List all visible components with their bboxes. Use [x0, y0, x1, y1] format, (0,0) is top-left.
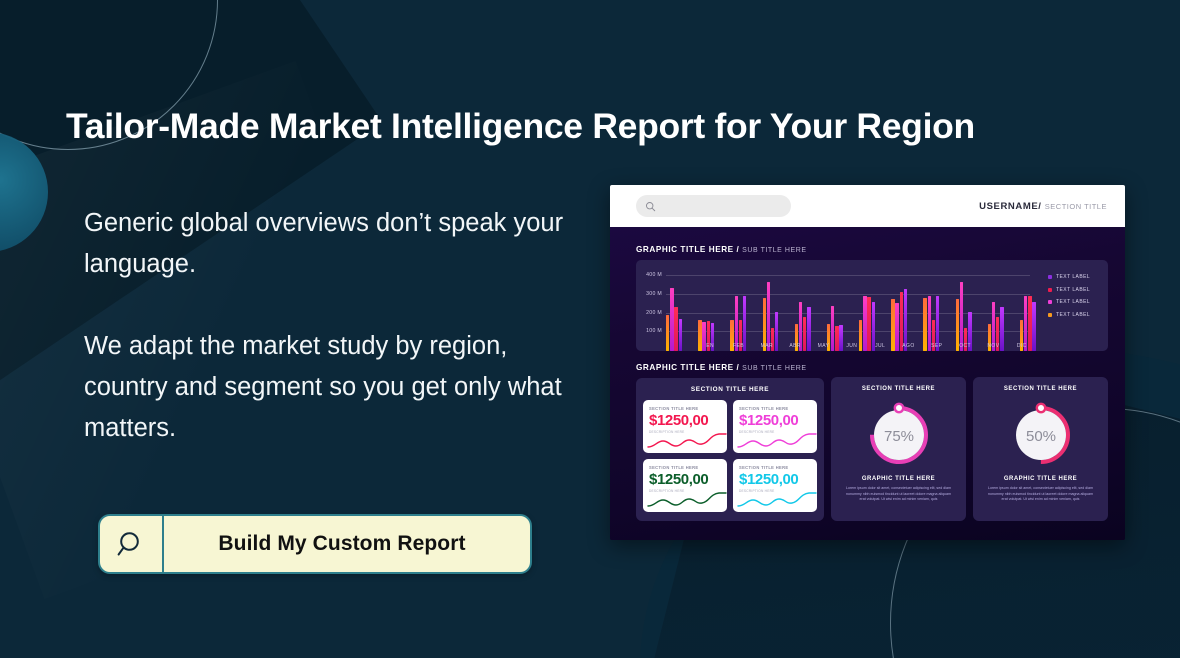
bar-group: [666, 267, 682, 351]
donut-svg: 75%: [864, 400, 934, 470]
bar-chart-panel: GRAPHIC TITLE HERE / SUB TITLE HERE 400 …: [636, 245, 1108, 351]
search-icon: [645, 201, 656, 212]
stats-panel: GRAPHIC TITLE HERE / SUB TITLE HERE SECT…: [636, 363, 824, 521]
donut-graphic-title: GRAPHIC TITLE HERE: [839, 476, 958, 482]
build-report-button[interactable]: Build My Custom Report: [98, 514, 532, 574]
stat-label: SECTION TITLE HERE: [739, 465, 811, 470]
x-axis-tick: FEB: [724, 343, 752, 349]
stat-card[interactable]: SECTION TITLE HERE$1250,00DESCRIPTION HE…: [733, 459, 817, 512]
donut-panel: SECTION TITLE HERE50%GRAPHIC TITLE HEREL…: [973, 377, 1108, 521]
legend-label: TEXT LABEL: [1056, 299, 1090, 305]
sparkline: [647, 432, 727, 450]
x-axis-tick: MAR: [753, 343, 781, 349]
x-axis-tick: DIC: [1008, 343, 1036, 349]
body-paragraph-1: Generic global overviews don’t speak you…: [84, 203, 594, 285]
search-icon: [100, 516, 164, 572]
donut-knob: [1036, 404, 1044, 412]
x-axis-tick: NOV: [979, 343, 1007, 349]
bar-chart-title: GRAPHIC TITLE HERE /: [636, 245, 739, 254]
bar-group: [859, 267, 875, 351]
dashboard-username: USERNAME/: [979, 201, 1041, 212]
bar-group: [698, 267, 714, 351]
donut-lorem-text: Lorem ipsum dolor sit amet, consectetuer…: [839, 486, 958, 503]
legend-swatch: [1048, 300, 1052, 304]
donut-panels: SECTION TITLE HERE75%GRAPHIC TITLE HEREL…: [831, 363, 1108, 521]
dashboard-mockup: USERNAME/ SECTION TITLE GRAPHIC TITLE HE…: [610, 185, 1125, 540]
donut-graphic-title: GRAPHIC TITLE HERE: [981, 476, 1100, 482]
background-circle-left-teal: [0, 132, 48, 252]
legend-item[interactable]: TEXT LABEL: [1048, 274, 1108, 280]
body-copy: Generic global overviews don’t speak you…: [84, 203, 594, 449]
slide-root: Tailor-Made Market Intelligence Report f…: [0, 0, 1180, 658]
x-axis-tick: AGO: [894, 343, 922, 349]
bar: [666, 315, 669, 351]
x-axis-tick: OCT: [951, 343, 979, 349]
dashboard-topbar: USERNAME/ SECTION TITLE: [610, 185, 1125, 227]
dashboard-lower-row: GRAPHIC TITLE HERE / SUB TITLE HERE SECT…: [636, 363, 1108, 521]
bar-group: [891, 267, 907, 351]
bar-chart-legend: TEXT LABELTEXT LABELTEXT LABELTEXT LABEL: [1042, 260, 1108, 351]
x-axis-tick: JUN: [838, 343, 866, 349]
legend-item[interactable]: TEXT LABEL: [1048, 299, 1108, 305]
y-axis-tick: 400 M: [646, 272, 662, 278]
stat-label: SECTION TITLE HERE: [649, 465, 721, 470]
dashboard-body: GRAPHIC TITLE HERE / SUB TITLE HERE 400 …: [610, 227, 1125, 540]
bar-group: [827, 267, 843, 351]
y-axis-tick: 100 M: [646, 328, 662, 334]
bar-group: [730, 267, 746, 351]
legend-item[interactable]: TEXT LABEL: [1048, 287, 1108, 293]
bar-chart-subtitle: SUB TITLE HERE: [742, 247, 806, 254]
legend-item[interactable]: TEXT LABEL: [1048, 312, 1108, 318]
bar: [670, 288, 673, 351]
bar-group: [956, 267, 972, 351]
x-axis-tick: MAY: [809, 343, 837, 349]
dashboard-section-title: SECTION TITLE: [1045, 202, 1107, 211]
stats-section-title: SECTION TITLE HERE: [643, 386, 817, 393]
stat-label: SECTION TITLE HERE: [649, 406, 721, 411]
donut-svg: 50%: [1006, 400, 1076, 470]
bar-chart-card: 400 M300 M200 M100 M ENFEBMARABRMAYJUNJU…: [636, 260, 1108, 351]
stat-card[interactable]: SECTION TITLE HERE$1250,00DESCRIPTION HE…: [733, 400, 817, 453]
legend-swatch: [1048, 288, 1052, 292]
bar-chart-heading: GRAPHIC TITLE HERE / SUB TITLE HERE: [636, 245, 1108, 254]
stat-label: SECTION TITLE HERE: [739, 406, 811, 411]
stats-card-box: SECTION TITLE HERE SECTION TITLE HERE$12…: [636, 378, 824, 521]
bar: [679, 319, 682, 351]
stats-heading: GRAPHIC TITLE HERE / SUB TITLE HERE: [636, 363, 824, 372]
bar-chart-bars: [666, 267, 1036, 351]
sparkline: [737, 491, 817, 509]
legend-label: TEXT LABEL: [1056, 287, 1090, 293]
donut-lorem-text: Lorem ipsum dolor sit amet, consectetuer…: [981, 486, 1100, 503]
bar: [674, 307, 677, 351]
stat-value: $1250,00: [649, 412, 721, 429]
bar-group: [795, 267, 811, 351]
legend-label: TEXT LABEL: [1056, 312, 1090, 318]
y-axis-tick: 300 M: [646, 291, 662, 297]
y-axis-tick: 200 M: [646, 310, 662, 316]
x-axis-tick: JUL: [866, 343, 894, 349]
stat-value: $1250,00: [739, 471, 811, 488]
donut-chart: 75%: [839, 400, 958, 470]
search-input[interactable]: [636, 195, 791, 217]
dashboard-user: USERNAME/ SECTION TITLE: [979, 201, 1107, 212]
legend-label: TEXT LABEL: [1056, 274, 1090, 280]
x-axis-tick: ABR: [781, 343, 809, 349]
donut-section-title: SECTION TITLE HERE: [981, 386, 1100, 392]
page-title: Tailor-Made Market Intelligence Report f…: [66, 106, 1076, 147]
bar-chart-x-axis: ENFEBMARABRMAYJUNJULAGOSEPOCTNOVDIC: [696, 340, 1036, 351]
legend-swatch: [1048, 275, 1052, 279]
bar-group: [1020, 267, 1036, 351]
x-axis-tick: SEP: [923, 343, 951, 349]
body-paragraph-2: We adapt the market study by region, cou…: [84, 326, 594, 449]
donut-section-title: SECTION TITLE HERE: [839, 386, 958, 392]
donut-knob: [894, 404, 902, 412]
stats-title: GRAPHIC TITLE HERE /: [636, 363, 739, 372]
bar-group: [763, 267, 779, 351]
bar-group: [923, 267, 939, 351]
stats-card-grid: SECTION TITLE HERE$1250,00DESCRIPTION HE…: [643, 400, 817, 512]
bar-group: [988, 267, 1004, 351]
sparkline: [737, 432, 817, 450]
build-report-label: Build My Custom Report: [164, 532, 530, 556]
legend-swatch: [1048, 313, 1052, 317]
donut-value: 75%: [883, 428, 913, 445]
stat-card[interactable]: SECTION TITLE HERE$1250,00DESCRIPTION HE…: [643, 400, 727, 453]
donut-panel: SECTION TITLE HERE75%GRAPHIC TITLE HEREL…: [831, 377, 966, 521]
sparkline: [647, 491, 727, 509]
x-axis-tick: EN: [696, 343, 724, 349]
stat-card[interactable]: SECTION TITLE HERE$1250,00DESCRIPTION HE…: [643, 459, 727, 512]
donut-value: 50%: [1025, 428, 1055, 445]
bar-chart-plot: 400 M300 M200 M100 M ENFEBMARABRMAYJUNJU…: [666, 267, 1042, 351]
stats-subtitle: SUB TITLE HERE: [742, 365, 806, 372]
stat-value: $1250,00: [649, 471, 721, 488]
stat-value: $1250,00: [739, 412, 811, 429]
donut-chart: 50%: [981, 400, 1100, 470]
